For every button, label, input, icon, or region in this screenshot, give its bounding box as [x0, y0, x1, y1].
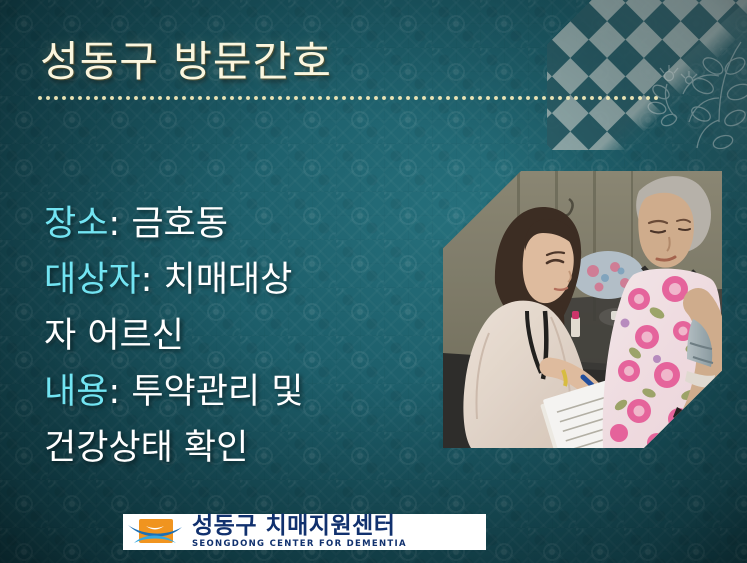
- content-separator-2: :: [141, 260, 153, 300]
- page-title: 성동구 방문간호: [40, 40, 332, 84]
- slide-canvas: 성동구 방문간호 장소: 금호동 대상자: 치매대상 자 어르신 내용: 투약관…: [0, 0, 747, 563]
- organization-logo: 성동구 치매지원센터 SEONGDONG CENTER FOR DEMENTIA: [123, 514, 486, 550]
- dotted-rule: [36, 95, 661, 101]
- content-label-detail: 내용: [44, 372, 108, 412]
- body-text-block: 장소: 금호동 대상자: 치매대상 자 어르신 내용: 투약관리 및 건강상태 …: [44, 196, 444, 476]
- visit-nursing-photo: [443, 171, 722, 448]
- content-separator-4: :: [108, 372, 120, 412]
- content-line-2: 대상자: 치매대상: [44, 252, 444, 308]
- logo-korean-name: 성동구 치매지원센터: [192, 515, 407, 538]
- content-value-target: 치매대상: [152, 260, 292, 300]
- content-line-5: 건강상태 확인: [44, 420, 444, 476]
- content-label-place: 장소: [44, 204, 108, 244]
- content-value-detail: 투약관리 및: [120, 372, 303, 412]
- content-value-target-cont: 자 어르신: [44, 316, 184, 356]
- content-line-1: 장소: 금호동: [44, 196, 444, 252]
- content-line-3: 자 어르신: [44, 308, 444, 364]
- content-separator-1: :: [108, 204, 120, 244]
- logo-english-name: SEONGDONG CENTER FOR DEMENTIA: [192, 540, 407, 549]
- content-value-place: 금호동: [120, 204, 228, 244]
- content-line-4: 내용: 투약관리 및: [44, 364, 444, 420]
- logo-text-block: 성동구 치매지원센터 SEONGDONG CENTER FOR DEMENTIA: [192, 515, 407, 549]
- content-value-detail-cont: 건강상태 확인: [44, 428, 248, 468]
- seongdong-bird-mark-icon: [126, 517, 184, 547]
- content-label-target: 대상자: [44, 260, 141, 300]
